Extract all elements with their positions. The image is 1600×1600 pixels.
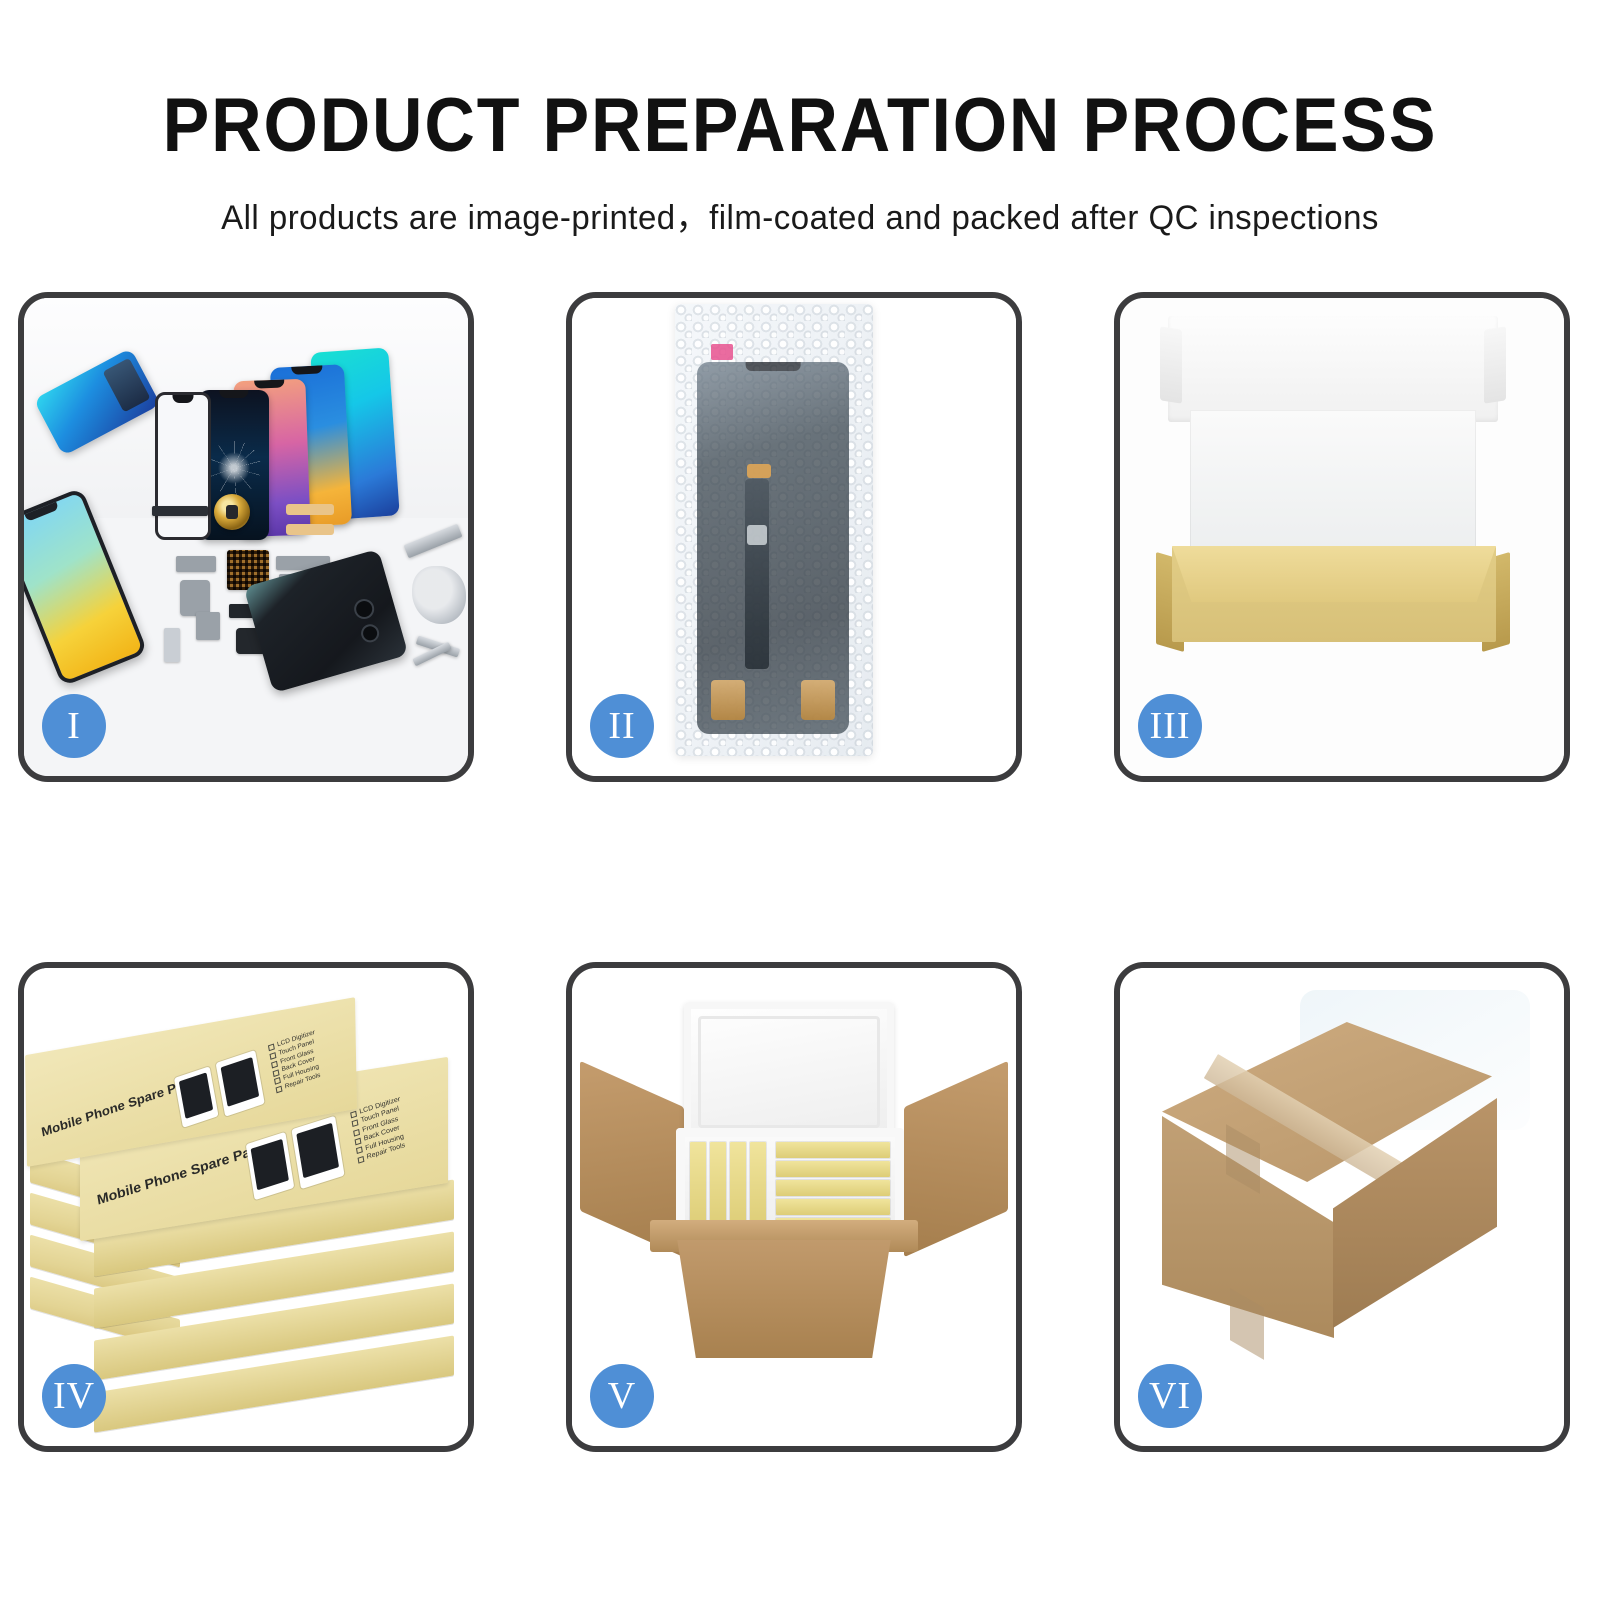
retail-box-checklist: LCD Digitizer Touch Panel Front Glass Ba…	[268, 1029, 324, 1095]
steps-grid: I II	[0, 0, 1600, 1600]
step-panel-1[interactable]: I	[18, 292, 474, 782]
connector-left-icon	[711, 680, 745, 720]
camera-bracket-icon	[196, 612, 220, 640]
step-panel-5[interactable]: V	[566, 962, 1022, 1452]
bubble-wrap-bag-icon	[675, 304, 873, 756]
step-panel-2[interactable]: II	[566, 292, 1022, 782]
retail-box-phone-image	[216, 1050, 265, 1117]
retail-box-phone-image	[291, 1116, 344, 1189]
step-panel-4[interactable]: Mobile Phone Spare Parts LCD Digitizer T…	[18, 962, 474, 1452]
connector-right-icon	[801, 680, 835, 720]
product-preparation-infographic: PRODUCT PREPARATION PROCESS All products…	[0, 0, 1600, 1600]
mailer-lid-icon	[1168, 316, 1498, 422]
front-glass-icon	[155, 392, 211, 540]
mailer-front-icon	[1172, 546, 1496, 642]
step-panel-3[interactable]: III	[1114, 292, 1570, 782]
flex-cable-a-icon	[286, 504, 334, 515]
step-panel-6[interactable]: VI	[1114, 962, 1570, 1452]
volume-button-flex-icon	[176, 556, 216, 572]
step-badge-5: V	[590, 1364, 654, 1428]
lcd-flex-cable-icon	[745, 479, 769, 669]
pink-tape-icon	[711, 344, 733, 360]
carton-front-icon	[668, 1240, 900, 1358]
speaker-module-icon	[152, 506, 208, 516]
retail-box-phone-image	[246, 1132, 295, 1200]
lcd-assembly-icon	[697, 362, 849, 734]
step-badge-4: IV	[42, 1364, 106, 1428]
sim-tray-icon	[164, 628, 180, 662]
retail-box-phone-image	[174, 1066, 218, 1128]
wireless-charge-coil-icon	[214, 494, 250, 530]
step-badge-6: VI	[1138, 1364, 1202, 1428]
gold-tab-icon	[747, 464, 771, 478]
foam-lid-icon	[684, 1002, 894, 1142]
retail-box-checklist: LCD Digitizer Touch Panel Front Glass Ba…	[350, 1095, 408, 1165]
step-badge-3: III	[1138, 694, 1202, 758]
flex-cable-b-icon	[286, 524, 334, 535]
step-badge-1: I	[42, 694, 106, 758]
bracket-icon	[180, 580, 210, 616]
step-badge-2: II	[590, 694, 654, 758]
foam-sheet-icon	[1190, 410, 1476, 558]
